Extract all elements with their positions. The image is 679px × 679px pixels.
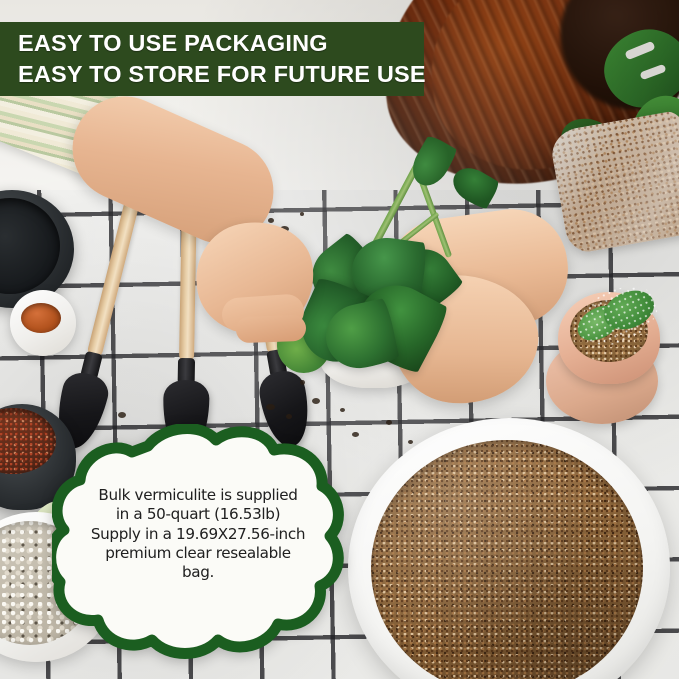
cloud-text-line-4: premium clear resealable bbox=[70, 544, 326, 563]
soil-speck bbox=[300, 380, 305, 385]
soil-speck bbox=[300, 212, 304, 216]
product-marketing-image: EASY TO USE PACKAGING EASY TO STORE FOR … bbox=[0, 0, 679, 679]
soil-speck bbox=[340, 408, 345, 412]
cloud-callout-text: Bulk vermiculite is supplied in a 50-qua… bbox=[70, 486, 326, 582]
soil-speck bbox=[386, 420, 392, 425]
soil-speck bbox=[286, 414, 292, 419]
white-cup-terracotta-interior bbox=[21, 303, 61, 333]
vermiculite-bowl-contents bbox=[371, 440, 643, 679]
headline-line-2: EASY TO STORE FOR FUTURE USE bbox=[18, 59, 424, 90]
soil-speck bbox=[266, 404, 275, 410]
soil-speck bbox=[352, 432, 359, 437]
cloud-text-line-2: in a 50-quart (16.53lb) bbox=[70, 505, 326, 524]
soil-speck bbox=[312, 398, 320, 404]
cloud-text-line-1: Bulk vermiculite is supplied bbox=[70, 486, 326, 505]
soil-speck bbox=[268, 218, 274, 223]
person-left-finger-2 bbox=[236, 315, 307, 343]
cloud-text-line-3: Supply in a 19.69X27.56-inch bbox=[70, 525, 326, 544]
headline-banner: EASY TO USE PACKAGING EASY TO STORE FOR … bbox=[0, 22, 424, 96]
cloud-text-line-5: bag. bbox=[70, 563, 326, 582]
soil-speck bbox=[118, 412, 126, 418]
cloud-callout: Bulk vermiculite is supplied in a 50-qua… bbox=[52, 424, 344, 660]
headline-line-1: EASY TO USE PACKAGING bbox=[18, 28, 424, 59]
